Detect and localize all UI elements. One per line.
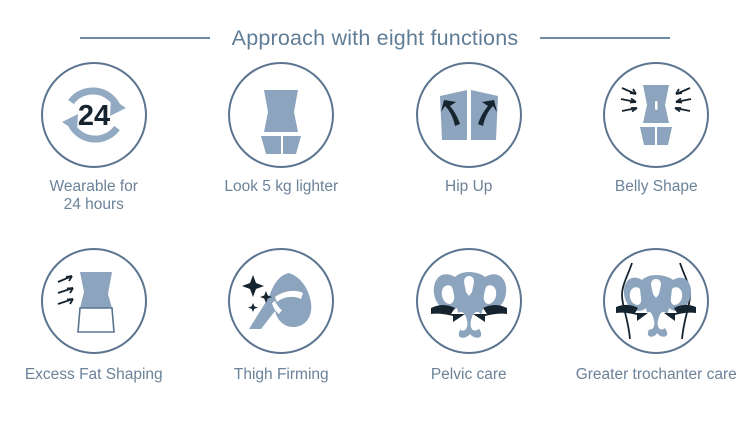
feature-grid: 24 Wearable for 24 hours bbox=[0, 62, 750, 434]
feature-item-excess-fat-shaping[interactable]: Excess Fat Shaping bbox=[0, 248, 188, 418]
cycle-24-hours-icon: 24 bbox=[51, 72, 137, 158]
title-rule-left bbox=[80, 37, 210, 39]
feature-item-pelvic-care[interactable]: Pelvic care bbox=[375, 248, 563, 418]
feature-row-top: 24 Wearable for 24 hours bbox=[0, 62, 750, 232]
feature-label: Greater trochanter care bbox=[576, 366, 737, 384]
feature-label: Belly Shape bbox=[615, 178, 698, 196]
hours-number: 24 bbox=[78, 100, 110, 132]
title-rule-right bbox=[540, 37, 670, 39]
belly-compress-arrows-icon bbox=[612, 73, 700, 157]
feature-item-hip-up[interactable]: Hip Up bbox=[375, 62, 563, 232]
feature-icon-circle bbox=[603, 62, 709, 168]
pelvis-body-outline-icon bbox=[610, 259, 702, 343]
feature-icon-circle bbox=[416, 248, 522, 354]
feature-item-belly-shape[interactable]: Belly Shape bbox=[563, 62, 750, 232]
feature-icon-circle: 24 bbox=[41, 62, 147, 168]
feature-label: Pelvic care bbox=[431, 366, 507, 384]
feature-item-greater-trochanter-care[interactable]: Greater trochanter care bbox=[563, 248, 750, 418]
feature-label: Excess Fat Shaping bbox=[25, 366, 163, 384]
fat-shaping-icon bbox=[50, 260, 138, 342]
feature-item-look-5-kg-lighter[interactable]: Look 5 kg lighter bbox=[188, 62, 376, 232]
feature-row-bottom: Excess Fat Shaping bbox=[0, 248, 750, 418]
page-header: Approach with eight functions bbox=[0, 18, 750, 58]
feature-label: Hip Up bbox=[445, 178, 492, 196]
feature-label: Look 5 kg lighter bbox=[224, 178, 338, 196]
feature-icon-circle bbox=[228, 248, 334, 354]
hip-up-arrows-icon bbox=[428, 74, 510, 156]
page-title: Approach with eight functions bbox=[232, 26, 519, 51]
feature-label: Thigh Firming bbox=[234, 366, 329, 384]
slim-torso-icon bbox=[240, 74, 322, 156]
feature-label: Wearable for 24 hours bbox=[50, 178, 138, 214]
feature-item-wearable-24-hours[interactable]: 24 Wearable for 24 hours bbox=[0, 62, 188, 232]
feature-item-thigh-firming[interactable]: Thigh Firming bbox=[188, 248, 376, 418]
infographic-page: Approach with eight functions 24 bbox=[0, 0, 750, 437]
pelvis-arrows-icon bbox=[425, 262, 513, 340]
thigh-sparkle-icon bbox=[239, 261, 323, 341]
feature-icon-circle bbox=[603, 248, 709, 354]
feature-icon-circle bbox=[228, 62, 334, 168]
feature-icon-circle bbox=[416, 62, 522, 168]
feature-icon-circle bbox=[41, 248, 147, 354]
